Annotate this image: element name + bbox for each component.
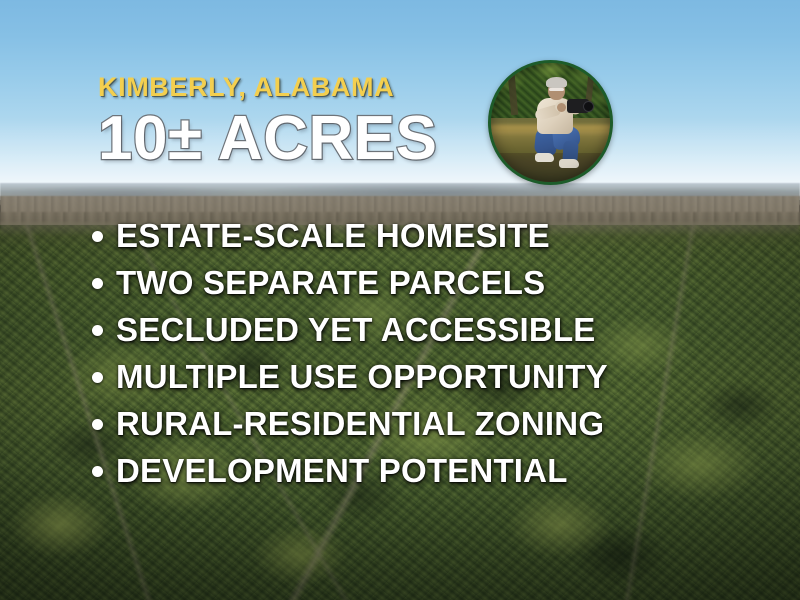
bullet-dot-icon [92, 466, 103, 477]
bullet-dot-icon [92, 419, 103, 430]
listing-promo-slide: KIMBERLY, ALABAMA 10± ACRES [0, 0, 800, 600]
list-item: DEVELOPMENT POTENTIAL [92, 447, 732, 494]
feature-label: RURAL-RESIDENTIAL ZONING [116, 407, 604, 440]
feature-label: MULTIPLE USE OPPORTUNITY [116, 360, 608, 393]
list-item: ESTATE-SCALE HOMESITE [92, 212, 732, 259]
agent-photo-badge [488, 60, 613, 185]
list-item: MULTIPLE USE OPPORTUNITY [92, 353, 732, 400]
badge-inner-shadow [491, 63, 610, 182]
bullet-dot-icon [92, 325, 103, 336]
feature-label: TWO SEPARATE PARCELS [116, 266, 545, 299]
feature-label: ESTATE-SCALE HOMESITE [116, 219, 550, 252]
acreage-headline: 10± ACRES [98, 108, 518, 170]
bullet-dot-icon [92, 372, 103, 383]
list-item: RURAL-RESIDENTIAL ZONING [92, 400, 732, 447]
location-label: KIMBERLY, ALABAMA [98, 74, 518, 101]
feature-label: SECLUDED YET ACCESSIBLE [116, 313, 596, 346]
list-item: TWO SEPARATE PARCELS [92, 259, 732, 306]
feature-label: DEVELOPMENT POTENTIAL [116, 454, 568, 487]
header-block: KIMBERLY, ALABAMA 10± ACRES [98, 74, 518, 170]
bullet-dot-icon [92, 231, 103, 242]
bullet-dot-icon [92, 278, 103, 289]
list-item: SECLUDED YET ACCESSIBLE [92, 306, 732, 353]
feature-list: ESTATE-SCALE HOMESITE TWO SEPARATE PARCE… [92, 212, 732, 494]
